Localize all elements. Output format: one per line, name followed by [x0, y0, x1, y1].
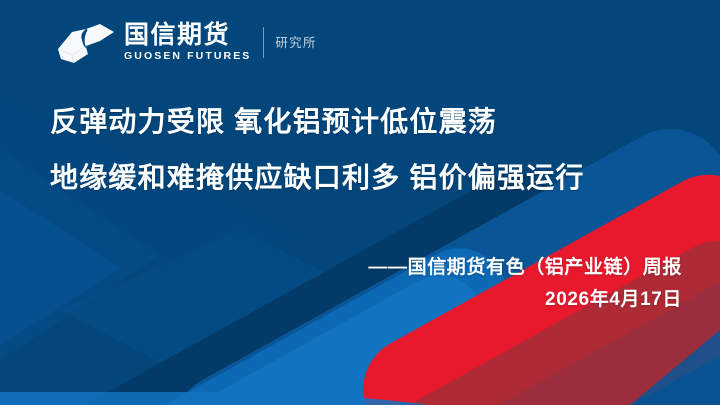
page-title: 反弹动力受限 氧化铝预计低位震荡 地缘缓和难掩供应缺口利多 铝价偏强运行	[50, 108, 670, 192]
guosen-wave-mark-icon	[56, 19, 116, 65]
brand-logo: 国信期货 GUOSEN FUTURES 研究所	[56, 16, 317, 68]
logo-department: 研究所	[275, 32, 316, 53]
strip-bottom-left	[0, 392, 430, 405]
logo-divider	[263, 27, 264, 58]
report-date: 2026年4月17日	[368, 290, 682, 311]
title-slide: 国信期货 GUOSEN FUTURES 研究所 反弹动力受限 氧化铝预计低位震荡…	[0, 0, 720, 405]
wedge-right-bottom	[630, 330, 720, 405]
logo-company-cn: 国信期货	[124, 22, 251, 49]
subtitle-block: ——国信期货有色（铝产业链）周报 2026年4月17日	[368, 258, 682, 311]
logo-wordmark: 国信期货 GUOSEN FUTURES	[124, 22, 251, 63]
title-line-1: 反弹动力受限 氧化铝预计低位震荡	[50, 108, 670, 136]
report-name: ——国信期货有色（铝产业链）周报	[368, 258, 682, 279]
wedge-left-inner	[0, 190, 120, 346]
logo-company-en: GUOSEN FUTURES	[124, 50, 251, 63]
title-line-2: 地缘缓和难掩供应缺口利多 铝价偏强运行	[50, 164, 670, 192]
wedge-center-soft	[60, 230, 420, 405]
band-red-dark	[329, 221, 720, 405]
